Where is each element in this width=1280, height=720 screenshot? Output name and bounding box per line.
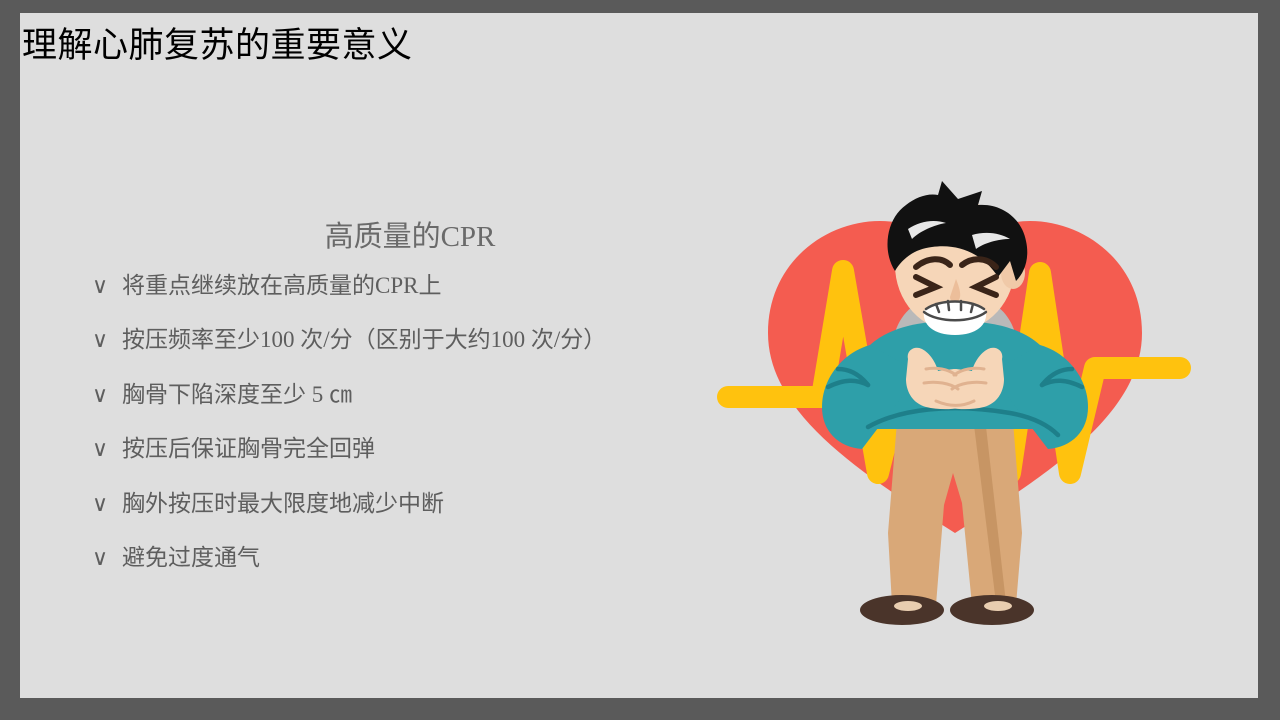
page-title: 理解心肺复苏的重要意义 — [22, 25, 413, 67]
check-v-icon: ∨ — [92, 380, 122, 410]
list-item-label: 胸外按压时最大限度地减少中断 — [122, 489, 444, 519]
bullet-list: ∨ 将重点继续放在高质量的CPR上 ∨ 按压频率至少100 次/分（区别于大约1… — [92, 271, 792, 597]
list-item-label: 避免过度通气 — [122, 543, 260, 573]
check-v-icon: ∨ — [92, 489, 122, 519]
check-v-icon: ∨ — [92, 543, 122, 573]
list-item-label: 按压后保证胸骨完全回弹 — [122, 434, 375, 464]
list-item-label: 按压频率至少100 次/分（区别于大约100 次/分） — [122, 325, 606, 355]
check-v-icon: ∨ — [92, 434, 122, 464]
list-item: ∨ 避免过度通气 — [92, 543, 792, 597]
mouth-shape — [924, 301, 986, 336]
list-item: ∨ 胸外按压时最大限度地减少中断 — [92, 489, 792, 543]
list-item-label: 将重点继续放在高质量的CPR上 — [122, 271, 441, 301]
slide-canvas: 理解心肺复苏的重要意义 高质量的CPR ∨ 将重点继续放在高质量的CPR上 ∨ … — [20, 13, 1258, 698]
presentation-window: 理解心肺复苏的重要意义 高质量的CPR ∨ 将重点继续放在高质量的CPR上 ∨ … — [0, 0, 1280, 720]
list-item-label: 胸骨下陷深度至少 5 ㎝ — [122, 380, 352, 410]
heart-attack-man-illustration — [710, 173, 1200, 643]
list-item: ∨ 胸骨下陷深度至少 5 ㎝ — [92, 380, 792, 434]
shoes-shape — [860, 595, 1034, 625]
list-item: ∨ 按压后保证胸骨完全回弹 — [92, 434, 792, 488]
check-v-icon: ∨ — [92, 271, 122, 301]
check-v-icon: ∨ — [92, 325, 122, 355]
list-item: ∨ 将重点继续放在高质量的CPR上 — [92, 271, 792, 325]
list-item: ∨ 按压频率至少100 次/分（区别于大约100 次/分） — [92, 325, 792, 379]
content-heading: 高质量的CPR — [130, 218, 690, 256]
